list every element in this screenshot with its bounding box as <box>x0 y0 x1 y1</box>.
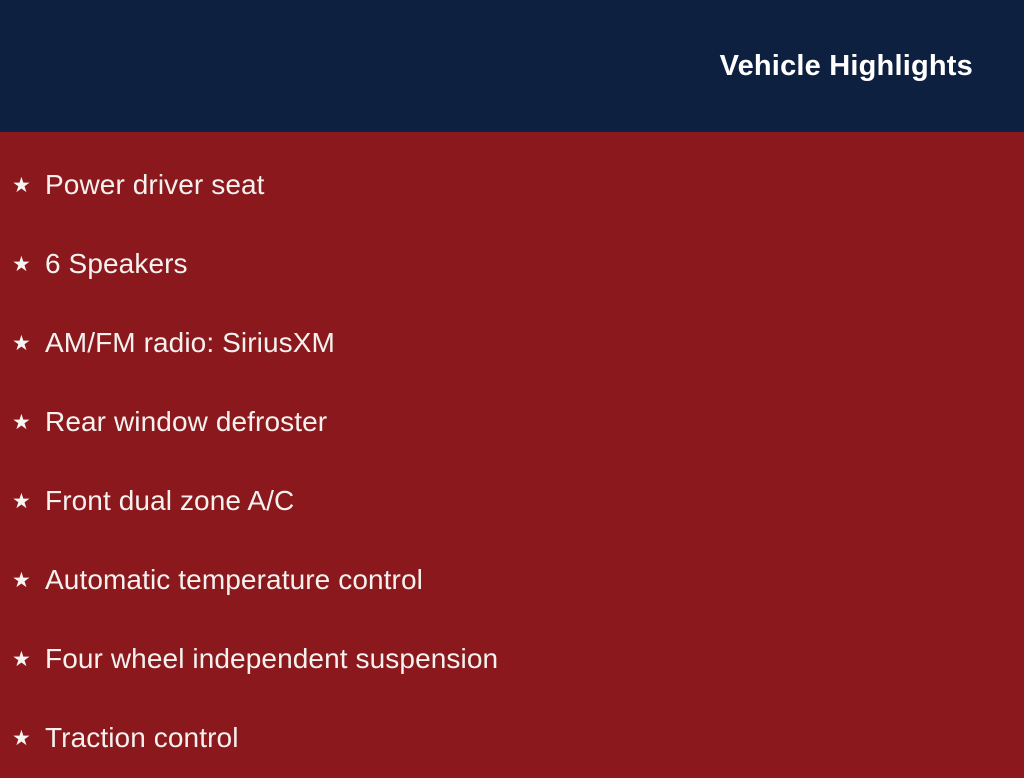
vehicle-highlights-list: ★ Power driver seat ★ 6 Speakers ★ AM/FM… <box>0 132 1024 778</box>
header-bar: Vehicle Highlights <box>0 0 1024 132</box>
list-item: ★ Power driver seat <box>0 146 1024 225</box>
list-item-label: Traction control <box>45 723 239 754</box>
list-item-label: 6 Speakers <box>45 249 188 280</box>
list-item-label: Automatic temperature control <box>45 565 423 596</box>
list-item: ★ Rear window defroster <box>0 383 1024 462</box>
list-item: ★ Four wheel independent suspension <box>0 620 1024 699</box>
list-item-label: Power driver seat <box>45 170 265 201</box>
list-item: ★ Traction control <box>0 699 1024 778</box>
list-item: ★ Front dual zone A/C <box>0 462 1024 541</box>
list-item: ★ Automatic temperature control <box>0 541 1024 620</box>
star-icon: ★ <box>12 333 45 354</box>
star-icon: ★ <box>12 175 45 196</box>
list-item-label: Front dual zone A/C <box>45 486 294 517</box>
star-icon: ★ <box>12 728 45 749</box>
list-item-label: Rear window defroster <box>45 407 327 438</box>
list-item: ★ 6 Speakers <box>0 225 1024 304</box>
star-icon: ★ <box>12 412 45 433</box>
star-icon: ★ <box>12 649 45 670</box>
list-item-label: AM/FM radio: SiriusXM <box>45 328 335 359</box>
page-title: Vehicle Highlights <box>720 52 973 81</box>
star-icon: ★ <box>12 254 45 275</box>
vehicle-highlights-slide: Vehicle Highlights ★ Power driver seat ★… <box>0 0 1024 768</box>
star-icon: ★ <box>12 491 45 512</box>
star-icon: ★ <box>12 570 45 591</box>
list-item-label: Four wheel independent suspension <box>45 644 498 675</box>
list-item: ★ AM/FM radio: SiriusXM <box>0 304 1024 383</box>
